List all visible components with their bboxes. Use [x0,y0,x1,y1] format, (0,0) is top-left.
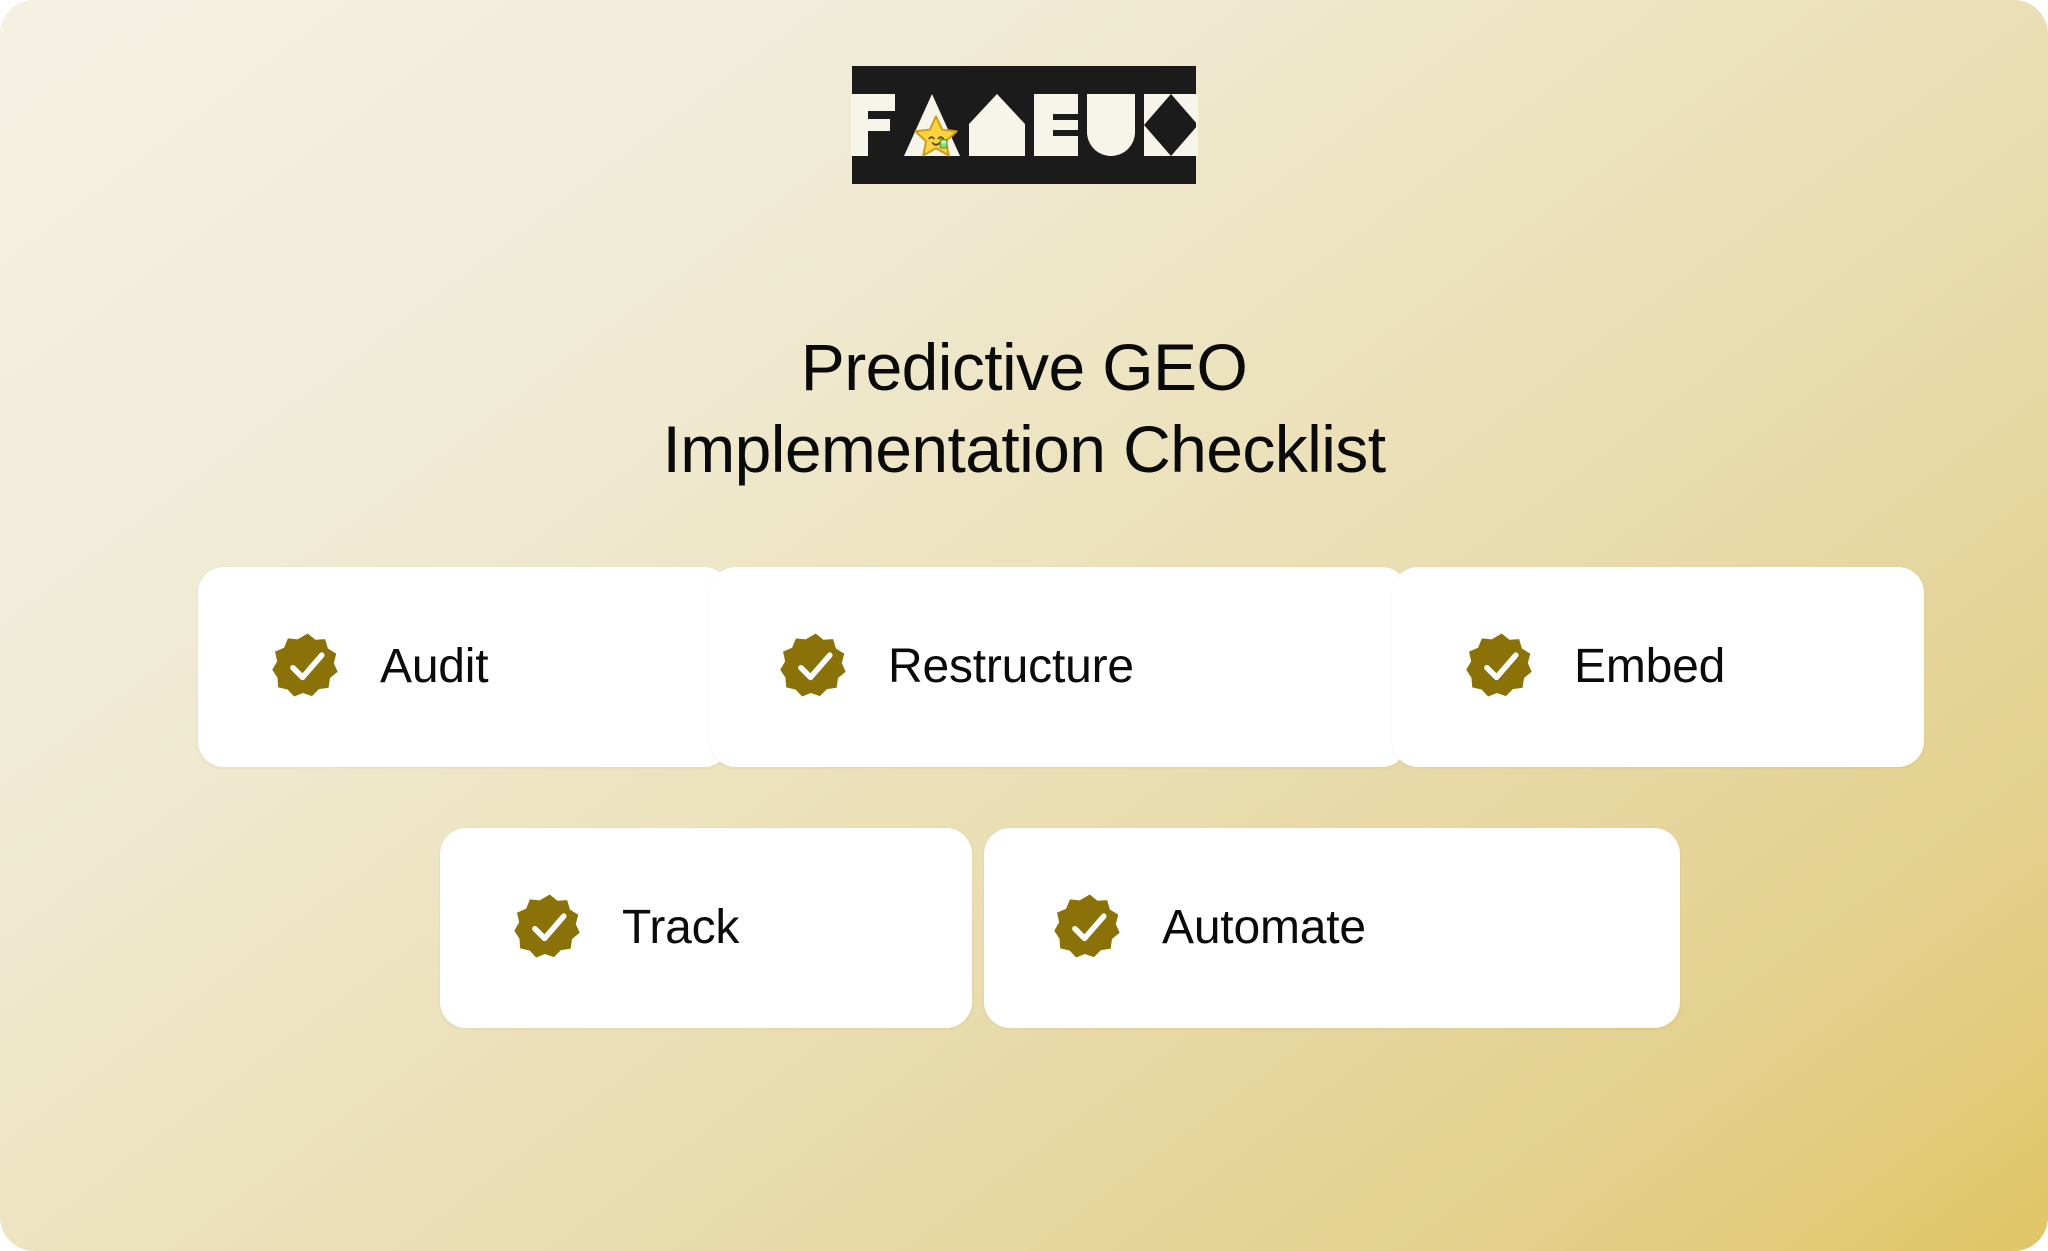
brand-logo [852,66,1196,184]
checklist-card-label: Embed [1574,643,1725,691]
checklist-card-label: Automate [1162,904,1366,952]
page-title-line-2: Implementation Checklist [0,408,2048,490]
logo-letter-m [969,94,1025,156]
check-badge-icon [512,891,586,965]
checklist-card-label: Audit [380,643,488,691]
logo-letter-x [1144,94,1198,156]
page-title: Predictive GEO Implementation Checklist [0,326,2048,490]
brand-logo-letters [851,94,1198,156]
checklist-card-embed[interactable]: Embed [1392,567,1924,767]
check-badge-icon [1464,630,1538,704]
checklist-card-automate[interactable]: Automate [984,828,1680,1028]
logo-letter-a [904,94,960,156]
logo-letter-e [1034,94,1078,156]
brand-logo-wrap [0,66,2048,184]
checklist-card-label: Restructure [888,643,1134,691]
checklist-card-track[interactable]: Track [440,828,972,1028]
check-badge-icon [270,630,344,704]
checklist-card-audit[interactable]: Audit [198,567,730,767]
page-title-line-1: Predictive GEO [0,326,2048,408]
checklist-card-restructure[interactable]: Restructure [710,567,1408,767]
check-badge-icon [1052,891,1126,965]
logo-letter-u [1087,94,1135,156]
logo-letter-f [851,94,895,156]
checklist-card-label: Track [622,904,739,952]
check-badge-icon [778,630,852,704]
infographic-canvas: Predictive GEO Implementation Checklist … [0,0,2048,1251]
